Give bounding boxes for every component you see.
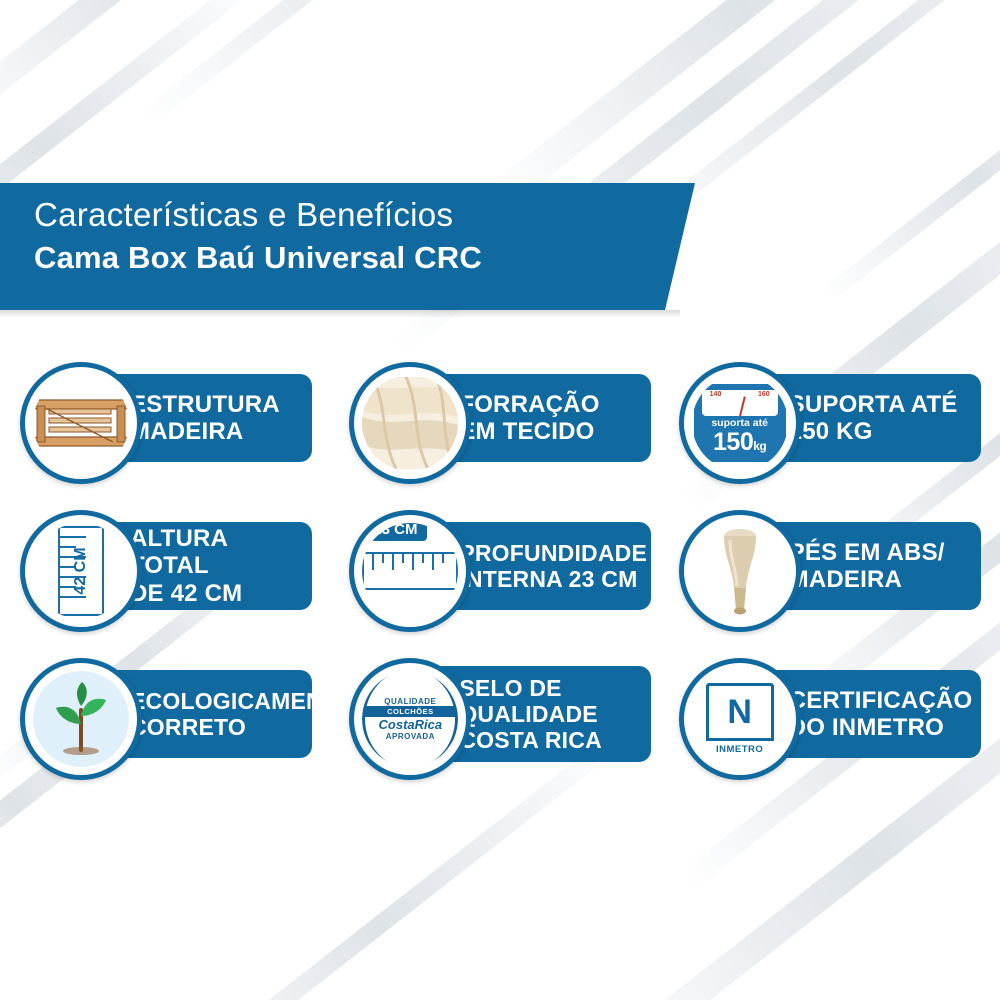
features-grid: ESTRUTURA MADEIRA: [0, 355, 1000, 799]
horizontal-ruler-icon: [362, 552, 458, 590]
feature-label-line2: DO INMETRO: [789, 714, 944, 741]
feature-badge: 42 CM: [20, 510, 142, 632]
feature-profundidade-interna: PROFUNDIDADE INTERNA 23 CM: [343, 510, 670, 620]
feature-label-line3: COSTA RICA: [459, 727, 602, 753]
scale-value: 150: [713, 428, 753, 456]
eco-plant-icon: [42, 680, 120, 758]
feature-ecologicamento-correto: ECOLOGICAMENTO CORRETO: [14, 658, 341, 768]
scale-unit: kg: [753, 439, 766, 453]
seal-bottom-text: APROVADA: [386, 732, 435, 741]
header-text-block: Características e Benefícios Cama Box Ba…: [34, 195, 482, 277]
feature-badge: [679, 510, 801, 632]
feature-label-line2: EM TECIDO: [459, 418, 594, 445]
page-title: Características e Benefícios: [34, 195, 482, 235]
feature-label-line1: ECOLOGICAMENTO: [130, 688, 355, 714]
inmetro-name: INMETRO: [716, 744, 763, 755]
feature-forracao-tecido: FORRAÇÃO EM TECIDO: [343, 362, 670, 472]
infographic-page: Características e Benefícios Cama Box Ba…: [0, 0, 1000, 1000]
scale-dial-right: 160: [758, 391, 770, 398]
ruler-measure-label: 42 CM: [72, 547, 90, 594]
feature-badge: N INMETRO: [679, 658, 801, 780]
feature-pes-abs-madeira: PÉS EM ABS/ MADEIRA: [673, 510, 1000, 620]
feature-row: ECOLOGICAMENTO CORRETO: [0, 651, 1000, 775]
feature-label-line2: DE 42 CM: [130, 580, 242, 607]
banner-shadow: [0, 310, 680, 318]
fabric-icon: [362, 377, 458, 469]
feature-selo-qualidade-costa-rica: SELO DE QUALIDADE COSTA RICA QUALIDADE C…: [343, 658, 670, 768]
feature-row: ALTURA TOTAL DE 42 CM: [0, 503, 1000, 627]
feature-label: ECOLOGICAMENTO CORRETO: [130, 688, 355, 740]
feature-label-line1: ESTRUTURA: [130, 391, 280, 418]
feature-label-line1: CERTIFICAÇÃO: [789, 687, 973, 714]
feature-label-line1: PROFUNDIDADE: [459, 540, 647, 566]
feature-badge: [20, 658, 142, 780]
feature-badge: 23 CM: [349, 510, 471, 632]
feature-badge: 140 160 suporta até 150kg: [679, 362, 801, 484]
ruler-measure-label: 23 CM: [364, 523, 426, 541]
inmetro-icon: N INMETRO: [693, 672, 787, 766]
scale-dial-left: 140: [710, 391, 722, 398]
feature-label-line1: SUPORTA ATÉ: [789, 391, 958, 418]
feature-label: SELO DE QUALIDADE COSTA RICA: [459, 675, 602, 753]
feature-label: FORRAÇÃO EM TECIDO: [459, 391, 599, 445]
feature-label-line1: FORRAÇÃO: [459, 391, 599, 418]
feature-label: CERTIFICAÇÃO DO INMETRO: [789, 687, 973, 741]
feature-label: ESTRUTURA MADEIRA: [130, 391, 280, 445]
seal-top-text: QUALIDADE: [384, 697, 436, 706]
feature-badge: [20, 362, 142, 484]
inmetro-letter: N: [706, 683, 774, 741]
feature-certificacao-inmetro: CERTIFICAÇÃO DO INMETRO N INMETRO: [673, 658, 1000, 768]
feature-label-line1: SELO DE: [459, 675, 561, 701]
feature-label-line2: QUALIDADE: [459, 701, 598, 727]
quality-seal-icon: QUALIDADE COLCHÕES CostaRica APROVADA: [362, 671, 458, 767]
feature-row: ESTRUTURA MADEIRA: [0, 355, 1000, 479]
feature-estrutura-madeira: ESTRUTURA MADEIRA: [14, 362, 341, 472]
page-subtitle: Cama Box Baú Universal CRC: [34, 239, 482, 277]
feature-label-line2: MADEIRA: [130, 418, 243, 445]
feature-altura-total: ALTURA TOTAL DE 42 CM: [14, 510, 341, 620]
feature-badge: [349, 362, 471, 484]
wood-frame-icon: [33, 392, 129, 454]
feature-label-line2: 150 KG: [789, 418, 873, 445]
feature-label-line2: INTERNA 23 CM: [459, 566, 637, 592]
scale-icon: 140 160 suporta até 150kg: [694, 384, 786, 462]
feature-label-line2: MADEIRA: [789, 566, 902, 593]
seal-brand-text: CostaRica: [379, 717, 443, 732]
feature-label-line1: PÉS EM ABS/: [789, 539, 945, 566]
furniture-foot-icon: [710, 526, 770, 616]
feature-label: SUPORTA ATÉ 150 KG: [789, 391, 958, 445]
feature-suporta-150kg: SUPORTA ATÉ 150 KG 140 160: [673, 362, 1000, 472]
feature-label: PÉS EM ABS/ MADEIRA: [789, 539, 945, 593]
feature-badge: QUALIDADE COLCHÕES CostaRica APROVADA: [349, 658, 471, 780]
vertical-ruler-icon: 42 CM: [58, 526, 104, 616]
feature-label: PROFUNDIDADE INTERNA 23 CM: [459, 540, 647, 592]
feature-label-line2: CORRETO: [130, 714, 246, 740]
feature-label: ALTURA TOTAL DE 42 CM: [130, 525, 302, 606]
feature-label-line1: ALTURA TOTAL: [130, 525, 227, 579]
seal-band-text: COLCHÕES: [365, 706, 455, 717]
